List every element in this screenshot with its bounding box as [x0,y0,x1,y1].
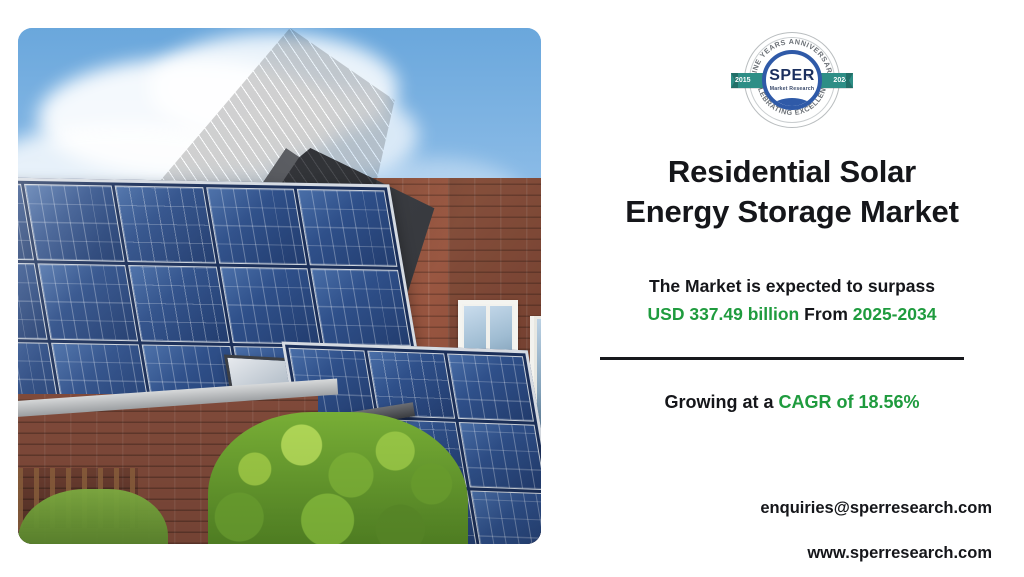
solar-panel-cell [470,490,541,544]
market-value-connector: From [804,304,848,324]
page-title: Residential Solar Energy Storage Market [560,152,1024,233]
sper-market-research-logo: NINE YEARS ANNIVERSARY CELEBRATING EXCEL… [744,32,840,128]
contact-website[interactable]: www.sperresearch.com [560,544,992,563]
market-statement-figures: USD 337.49 billion From 2025-2034 [560,300,1024,328]
solar-panel-cell [219,266,320,344]
solar-panel-cell [24,184,125,262]
badge-tagline: Market Research [770,86,815,92]
solar-panel-cell [447,354,534,422]
rooftop-solar-panels-photo [18,28,541,544]
solar-panel-cell [115,186,216,264]
section-divider [600,357,964,360]
page-title-line-2: Energy Storage Market [560,192,1024,232]
badge-year-start: 2015 [735,73,751,88]
page-title-line-1: Residential Solar [560,152,1024,192]
cagr-value: CAGR of 18.56% [778,392,919,412]
badge-year-end: 2024 [833,73,849,88]
photo-scene [18,28,541,544]
market-value-amount: USD 337.49 billion [648,304,800,324]
cagr-statement: Growing at a CAGR of 18.56% [560,392,1024,413]
contact-details: enquiries@sperresearch.com www.sperresea… [560,499,992,563]
market-forecast-period: 2025-2034 [853,304,937,324]
market-statement-lead: The Market is expected to surpass [560,272,1024,300]
market-value-statement: The Market is expected to surpass USD 33… [560,272,1024,329]
solar-panel-cell [38,263,139,341]
badge-core-disc: SPER Market Research ® [762,50,822,110]
banner-content-column: NINE YEARS ANNIVERSARY CELEBRATING EXCEL… [560,0,1024,577]
solar-panel-cell [206,187,307,265]
registered-trademark-icon: ® [807,74,811,80]
solar-panel-cell [128,265,229,343]
market-report-banner: NINE YEARS ANNIVERSARY CELEBRATING EXCEL… [0,0,1024,577]
solar-panel-cell [297,189,398,267]
cagr-lead: Growing at a [664,392,773,412]
contact-email[interactable]: enquiries@sperresearch.com [560,499,992,518]
solar-panel-cell [310,268,411,346]
solar-panel-cell [458,422,541,490]
